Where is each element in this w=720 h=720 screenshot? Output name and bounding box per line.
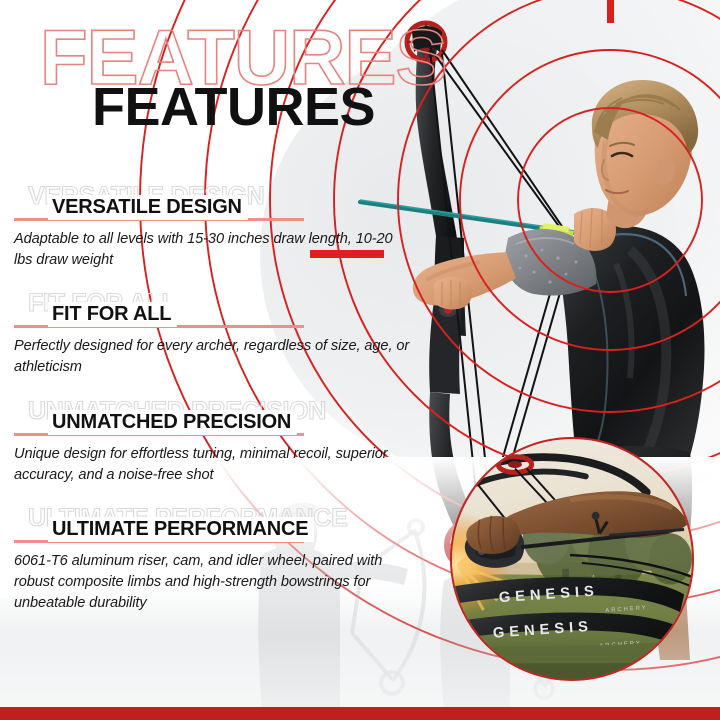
feature-heading-title: FIT FOR ALL [48,302,177,327]
feature-body: Adaptable to all levels with 15-30 inche… [14,229,414,270]
top-tick-mark [607,0,614,23]
feature-heading-title: ULTIMATE PERFORMANCE [48,517,314,542]
feature-list: VERSATILE DESIGN VERSATILE DESIGN Adapta… [14,186,434,636]
feature-heading: ULTIMATE PERFORMANCE ULTIMATE PERFORMANC… [14,508,434,548]
feature-item: UNMATCHED PRECISION UNMATCHED PRECISION … [14,401,434,485]
feature-item: FIT FOR ALL FIT FOR ALL Perfectly design… [14,293,434,377]
feature-heading-title: VERSATILE DESIGN [48,195,248,220]
feature-body: Perfectly designed for every archer, reg… [14,336,414,377]
feature-heading: UNMATCHED PRECISION UNMATCHED PRECISION [14,401,434,441]
feature-item: VERSATILE DESIGN VERSATILE DESIGN Adapta… [14,186,434,270]
feature-heading: FIT FOR ALL FIT FOR ALL [14,293,434,333]
feature-body: 6061-T6 aluminum riser, cam, and idler w… [14,551,414,613]
feature-heading: VERSATILE DESIGN VERSATILE DESIGN [14,186,434,226]
feature-body: Unique design for effortless tuning, min… [14,444,414,485]
feature-item: ULTIMATE PERFORMANCE ULTIMATE PERFORMANC… [14,508,434,613]
inset-photo: GENESIS ARCHERY GENESIS ARCHERY [450,437,694,681]
feature-page-canvas: FEATURES FEATURES VERSATILE DESIGN VERSA… [0,0,720,720]
feature-heading-title: UNMATCHED PRECISION [48,410,297,435]
page-title-main: FEATURES [92,80,375,134]
page-title: FEATURES FEATURES [0,18,560,128]
bottom-red-bar [0,707,720,720]
